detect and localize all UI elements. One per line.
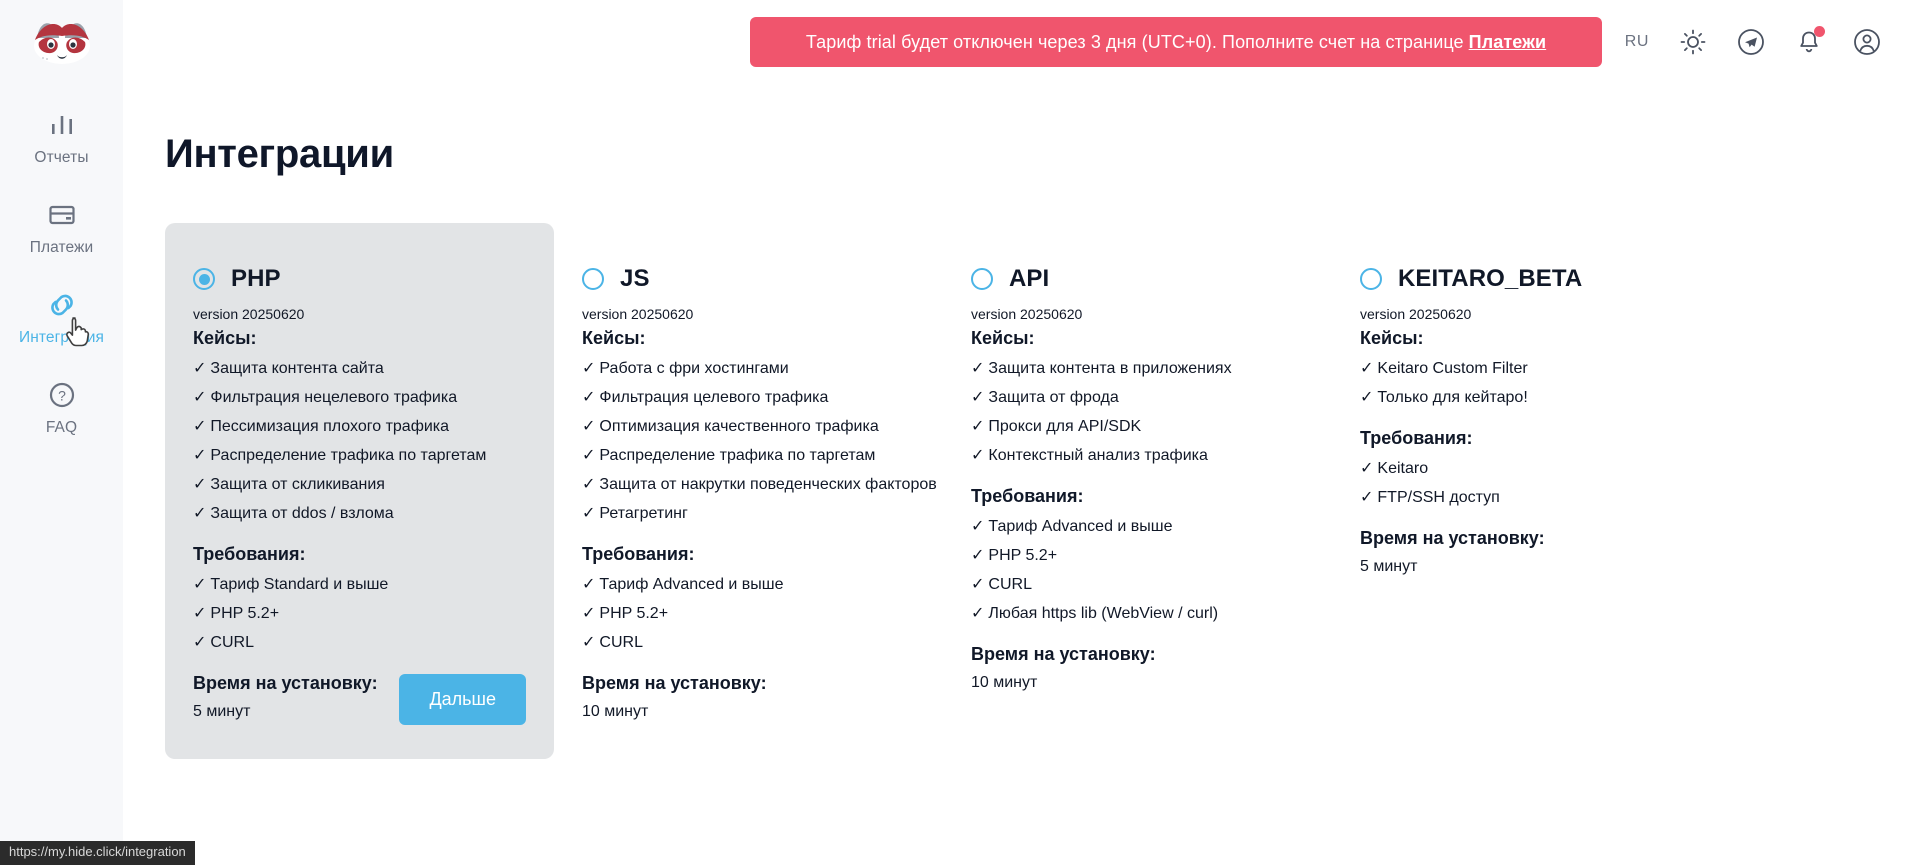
requirements-heading: Требования: <box>971 486 1304 507</box>
card-header: API <box>971 265 1304 293</box>
integration-card[interactable]: APIversion 20250620Кейсы:✓Защита контент… <box>943 223 1332 759</box>
case-item: ✓Распределение трафика по таргетам <box>582 441 915 470</box>
cases-heading: Кейсы: <box>582 328 915 349</box>
check-icon: ✓ <box>971 447 984 464</box>
case-label: Фильтрация целевого трафика <box>599 389 828 406</box>
requirement-item: ✓PHP 5.2+ <box>193 599 526 628</box>
case-item: ✓Пессимизация плохого трафика <box>193 412 526 441</box>
sidebar-item-label: Отчеты <box>34 149 88 167</box>
check-icon: ✓ <box>971 547 984 564</box>
requirement-item: ✓PHP 5.2+ <box>582 599 915 628</box>
install-time-heading: Время на установку: <box>1360 528 1693 549</box>
case-label: Защита от накрутки поведенческих факторо… <box>599 476 936 493</box>
card-header: PHP <box>193 265 526 293</box>
requirement-label: PHP 5.2+ <box>988 547 1057 564</box>
integration-card[interactable]: KEITARO_BETAversion 20250620Кейсы:✓Keita… <box>1332 223 1721 759</box>
check-icon: ✓ <box>1360 360 1373 377</box>
case-label: Защита от скликивания <box>210 476 385 493</box>
requirement-label: FTP/SSH доступ <box>1377 489 1499 506</box>
case-label: Распределение трафика по таргетам <box>210 447 486 464</box>
card-header: JS <box>582 265 915 293</box>
radio-button[interactable] <box>193 268 215 290</box>
check-icon: ✓ <box>582 634 595 651</box>
page-title: Интеграции <box>165 132 394 177</box>
check-icon: ✓ <box>193 360 206 377</box>
status-bar-url: https://my.hide.click/integration <box>0 841 195 865</box>
sidebar-item-reports[interactable]: Отчеты <box>0 92 123 182</box>
cases-heading: Кейсы: <box>193 328 526 349</box>
cases-heading: Кейсы: <box>971 328 1304 349</box>
requirement-item: ✓Keitaro <box>1360 454 1693 483</box>
requirement-item: ✓Тариф Standard и выше <box>193 570 526 599</box>
case-item: ✓Защита от ddos / взлома <box>193 499 526 528</box>
banner-payments-link[interactable]: Платежи <box>1469 32 1547 53</box>
requirement-label: CURL <box>988 576 1032 593</box>
requirements-heading: Требования: <box>1360 428 1693 449</box>
check-icon: ✓ <box>582 605 595 622</box>
card-title: API <box>1009 265 1049 293</box>
credit-card-icon <box>45 198 79 232</box>
requirement-label: Тариф Advanced и выше <box>599 576 783 593</box>
radio-button[interactable] <box>971 268 993 290</box>
card-header: KEITARO_BETA <box>1360 265 1693 293</box>
install-time-value: 10 минут <box>582 699 915 725</box>
next-button[interactable]: Дальше <box>399 674 526 725</box>
check-icon: ✓ <box>193 605 206 622</box>
requirement-item: ✓Тариф Advanced и выше <box>971 512 1304 541</box>
notifications-button[interactable] <box>1795 28 1823 56</box>
check-icon: ✓ <box>193 476 206 493</box>
trial-warning-banner: Тариф trial будет отключен через 3 дня (… <box>750 17 1602 67</box>
link-icon <box>45 288 79 322</box>
install-time-value: 10 минут <box>971 670 1304 696</box>
case-item: ✓Защита от накрутки поведенческих фактор… <box>582 470 915 499</box>
main-content: Интеграции PHPversion 20250620Кейсы:✓Защ… <box>123 84 1919 865</box>
case-label: Работа с фри хостингами <box>599 360 788 377</box>
requirement-item: ✓Тариф Advanced и выше <box>582 570 915 599</box>
requirement-label: Тариф Standard и выше <box>210 576 388 593</box>
cases-heading: Кейсы: <box>1360 328 1693 349</box>
check-icon: ✓ <box>582 389 595 406</box>
radio-button[interactable] <box>1360 268 1382 290</box>
case-item: ✓Фильтрация целевого трафика <box>582 383 915 412</box>
check-icon: ✓ <box>582 476 595 493</box>
case-label: Контекстный анализ трафика <box>988 447 1208 464</box>
integration-card[interactable]: PHPversion 20250620Кейсы:✓Защита контент… <box>165 223 554 759</box>
requirement-label: PHP 5.2+ <box>599 605 668 622</box>
card-version: version 20250620 <box>582 306 915 322</box>
case-item: ✓Оптимизация качественного трафика <box>582 412 915 441</box>
check-icon: ✓ <box>971 418 984 435</box>
requirement-item: ✓Любая https lib (WebView / curl) <box>971 599 1304 628</box>
integration-card[interactable]: JSversion 20250620Кейсы:✓Работа с фри хо… <box>554 223 943 759</box>
requirement-label: Любая https lib (WebView / curl) <box>988 605 1218 622</box>
card-version: version 20250620 <box>1360 306 1693 322</box>
case-item: ✓Только для кейтаро! <box>1360 383 1693 412</box>
case-item: ✓Распределение трафика по таргетам <box>193 441 526 470</box>
case-label: Защита от фрода <box>988 389 1118 406</box>
raccoon-logo-icon <box>31 18 93 66</box>
sidebar-item-label: Интеграция <box>19 329 104 347</box>
check-icon: ✓ <box>582 360 595 377</box>
app-logo[interactable] <box>0 0 123 84</box>
check-icon: ✓ <box>1360 460 1373 477</box>
case-label: Защита контента в приложениях <box>988 360 1231 377</box>
sidebar-item-faq[interactable]: ? FAQ <box>0 362 123 452</box>
check-icon: ✓ <box>193 389 206 406</box>
language-switcher[interactable]: RU <box>1625 33 1649 51</box>
requirement-label: CURL <box>210 634 254 651</box>
check-icon: ✓ <box>193 418 206 435</box>
question-circle-icon: ? <box>45 378 79 412</box>
sidebar-item-label: FAQ <box>46 419 77 437</box>
account-icon[interactable] <box>1853 28 1881 56</box>
check-icon: ✓ <box>1360 389 1373 406</box>
case-label: Защита от ddos / взлома <box>210 505 393 522</box>
requirement-label: CURL <box>599 634 643 651</box>
requirement-item: ✓PHP 5.2+ <box>971 541 1304 570</box>
check-icon: ✓ <box>582 418 595 435</box>
check-icon: ✓ <box>193 634 206 651</box>
integration-cards-list: PHPversion 20250620Кейсы:✓Защита контент… <box>165 223 1899 759</box>
sidebar-nav: Отчеты Платежи Интеграция <box>0 92 123 452</box>
case-label: Распределение трафика по таргетам <box>599 447 875 464</box>
notification-badge-dot <box>1814 26 1825 37</box>
check-icon: ✓ <box>582 505 595 522</box>
requirements-heading: Требования: <box>193 544 526 565</box>
check-icon: ✓ <box>582 576 595 593</box>
check-icon: ✓ <box>1360 489 1373 506</box>
case-item: ✓Ретагретинг <box>582 499 915 528</box>
check-icon: ✓ <box>582 447 595 464</box>
top-actions: RU <box>1625 28 1881 56</box>
sidebar-item-integration[interactable]: Интеграция <box>0 272 123 362</box>
radio-button[interactable] <box>582 268 604 290</box>
requirement-label: Keitaro <box>1377 460 1428 477</box>
svg-text:?: ? <box>58 387 66 403</box>
case-item: ✓Keitaro Custom Filter <box>1360 354 1693 383</box>
bar-chart-icon <box>45 108 79 142</box>
check-icon: ✓ <box>971 389 984 406</box>
card-version: version 20250620 <box>193 306 526 322</box>
case-item: ✓Работа с фри хостингами <box>582 354 915 383</box>
case-item: ✓Контекстный анализ трафика <box>971 441 1304 470</box>
card-title: PHP <box>231 265 281 293</box>
requirement-item: ✓CURL <box>582 628 915 657</box>
check-icon: ✓ <box>971 605 984 622</box>
case-label: Ретагретинг <box>599 505 687 522</box>
case-label: Защита контента сайта <box>210 360 383 377</box>
case-item: ✓Прокси для API/SDK <box>971 412 1304 441</box>
requirement-item: ✓CURL <box>971 570 1304 599</box>
card-title: JS <box>620 265 650 293</box>
card-title: KEITARO_BETA <box>1398 265 1582 293</box>
requirement-label: Тариф Advanced и выше <box>988 518 1172 535</box>
check-icon: ✓ <box>971 518 984 535</box>
case-item: ✓Защита контента в приложениях <box>971 354 1304 383</box>
case-label: Только для кейтаро! <box>1377 389 1527 406</box>
case-item: ✓Защита контента сайта <box>193 354 526 383</box>
card-version: version 20250620 <box>971 306 1304 322</box>
case-label: Пессимизация плохого трафика <box>210 418 449 435</box>
check-icon: ✓ <box>193 447 206 464</box>
case-label: Прокси для API/SDK <box>988 418 1141 435</box>
check-icon: ✓ <box>971 576 984 593</box>
check-icon: ✓ <box>971 360 984 377</box>
sun-icon[interactable] <box>1679 28 1707 56</box>
sidebar-item-payments[interactable]: Платежи <box>0 182 123 272</box>
requirement-item: ✓FTP/SSH доступ <box>1360 483 1693 512</box>
case-label: Keitaro Custom Filter <box>1377 360 1527 377</box>
app-root: Отчеты Платежи Интеграция <box>0 0 1919 865</box>
case-item: ✓Фильтрация нецелевого трафика <box>193 383 526 412</box>
top-bar: Тариф trial будет отключен через 3 дня (… <box>123 0 1919 84</box>
check-icon: ✓ <box>193 505 206 522</box>
banner-text: Тариф trial будет отключен через 3 дня (… <box>806 32 1464 53</box>
telegram-icon[interactable] <box>1737 28 1765 56</box>
install-time-heading: Время на установку: <box>971 644 1304 665</box>
check-icon: ✓ <box>193 576 206 593</box>
requirement-label: PHP 5.2+ <box>210 605 279 622</box>
sidebar: Отчеты Платежи Интеграция <box>0 0 123 865</box>
requirements-heading: Требования: <box>582 544 915 565</box>
radio-dot <box>199 274 210 285</box>
case-label: Фильтрация нецелевого трафика <box>210 389 457 406</box>
case-item: ✓Защита от скликивания <box>193 470 526 499</box>
case-label: Оптимизация качественного трафика <box>599 418 878 435</box>
sidebar-item-label: Платежи <box>30 239 94 257</box>
case-item: ✓Защита от фрода <box>971 383 1304 412</box>
install-time-value: 5 минут <box>1360 554 1693 580</box>
requirement-item: ✓CURL <box>193 628 526 657</box>
install-time-heading: Время на установку: <box>582 673 915 694</box>
